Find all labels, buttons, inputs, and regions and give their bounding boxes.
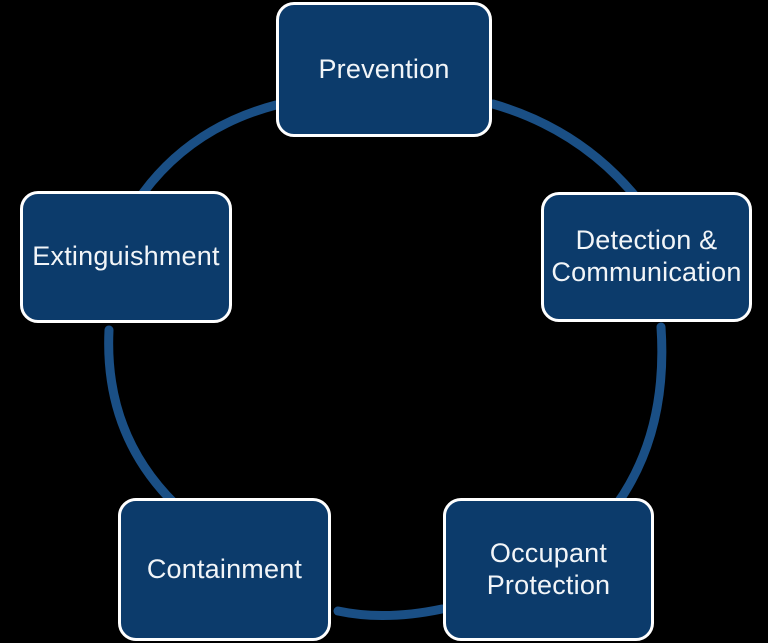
cycle-node-label: Prevention: [318, 54, 449, 86]
diagram-canvas: Prevention Detection & Communication Occ…: [0, 0, 768, 643]
cycle-node-occupant-protection[interactable]: Occupant Protection: [443, 498, 654, 641]
connector-extinguishment-to-prevention: [143, 105, 276, 193]
connector-detection-to-occupant: [617, 327, 662, 504]
cycle-node-label: Extinguishment: [32, 241, 219, 273]
cycle-node-label: Containment: [147, 554, 302, 586]
connector-occupant-to-containment: [338, 609, 442, 616]
cycle-node-label: Occupant Protection: [487, 538, 611, 602]
cycle-node-prevention[interactable]: Prevention: [276, 2, 492, 137]
cycle-node-containment[interactable]: Containment: [118, 498, 331, 641]
connector-prevention-to-detection: [493, 104, 640, 202]
cycle-node-extinguishment[interactable]: Extinguishment: [20, 191, 232, 323]
connector-containment-to-extinguishment: [109, 330, 175, 504]
cycle-node-detection-communication[interactable]: Detection & Communication: [541, 192, 752, 322]
cycle-node-label: Detection & Communication: [551, 225, 741, 289]
